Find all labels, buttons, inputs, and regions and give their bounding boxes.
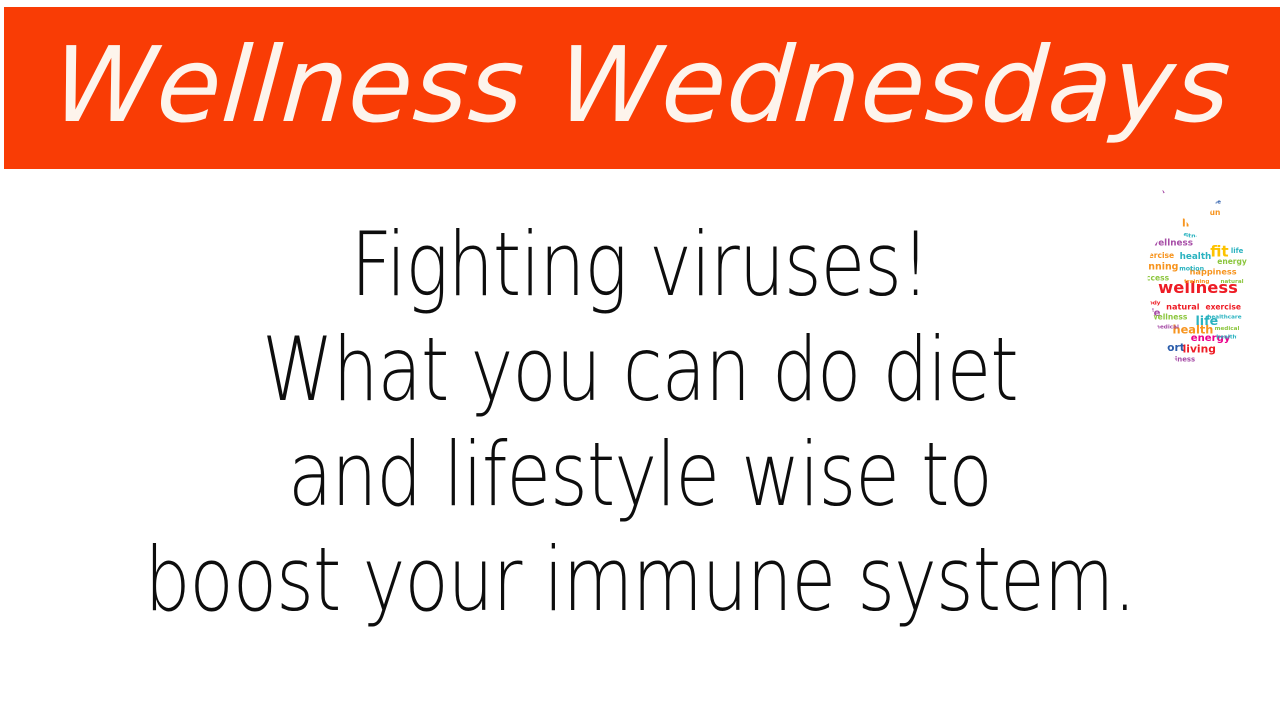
word-cloud-word: exercise xyxy=(1139,251,1175,260)
word-cloud-word: food xyxy=(1163,364,1181,372)
word-cloud-word: food xyxy=(1201,182,1217,189)
apple-word-cloud-svg: runfitlifefitness foodlifestylerun welln… xyxy=(1112,176,1280,384)
word-cloud-word: run xyxy=(1151,187,1166,199)
apple-leaf-right: foodlifestylerun xyxy=(1195,182,1221,217)
text-line-3: and lifestyle wise to xyxy=(115,422,1165,527)
apple-leaf-left: runfitlifefitness xyxy=(1151,187,1208,240)
word-cloud-word: healthcare xyxy=(1207,314,1241,320)
text-line-4: boost your immune system. xyxy=(115,527,1165,632)
word-cloud-word: run xyxy=(1206,208,1220,217)
word-cloud-word: exercise xyxy=(1205,303,1241,312)
page-title: Wellness Wednesdays xyxy=(4,7,1280,169)
apple-body: wellnesshealthfitwellnessrunninghealthex… xyxy=(1136,238,1247,372)
word-cloud-word: natural xyxy=(1166,302,1200,312)
word-cloud-word: running xyxy=(1137,261,1179,272)
word-cloud-word: care xyxy=(1146,330,1160,336)
word-cloud-word: health xyxy=(1180,252,1212,262)
word-cloud-word: medical xyxy=(1215,326,1240,332)
slide-canvas: Wellness Wednesdays Fighting viruses! Wh… xyxy=(0,0,1280,720)
word-cloud-word: sport xyxy=(1153,341,1185,354)
word-cloud-word: natural xyxy=(1220,279,1243,285)
word-cloud-word: medical xyxy=(1154,325,1179,331)
word-cloud-word: energy xyxy=(1217,257,1247,266)
word-cloud-word: training xyxy=(1184,279,1209,285)
word-cloud-word: motion xyxy=(1179,266,1204,273)
text-line-1: Fighting viruses! xyxy=(115,212,1165,317)
word-cloud-word: healthy xyxy=(1216,335,1240,341)
word-cloud-word: body xyxy=(1145,301,1161,307)
word-cloud-word: fit xyxy=(1192,195,1202,204)
word-cloud-word: living xyxy=(1183,342,1216,355)
word-cloud-word: wellness xyxy=(1150,238,1193,248)
word-cloud-word: life xyxy=(1231,247,1244,255)
main-text-block: Fighting viruses! What you can do diet a… xyxy=(115,212,1165,632)
word-cloud-word: wellness xyxy=(1151,313,1188,322)
apple-word-cloud-image: runfitlifefitness foodlifestylerun welln… xyxy=(1112,176,1280,384)
word-cloud-word: success xyxy=(1136,274,1169,283)
text-line-2: What you can do diet xyxy=(115,317,1165,422)
header-band: Wellness Wednesdays xyxy=(4,7,1280,169)
word-cloud-word: life xyxy=(1182,216,1201,229)
word-cloud-word: happiness xyxy=(1155,355,1195,363)
word-cloud-word: lifestyle xyxy=(1195,200,1221,206)
